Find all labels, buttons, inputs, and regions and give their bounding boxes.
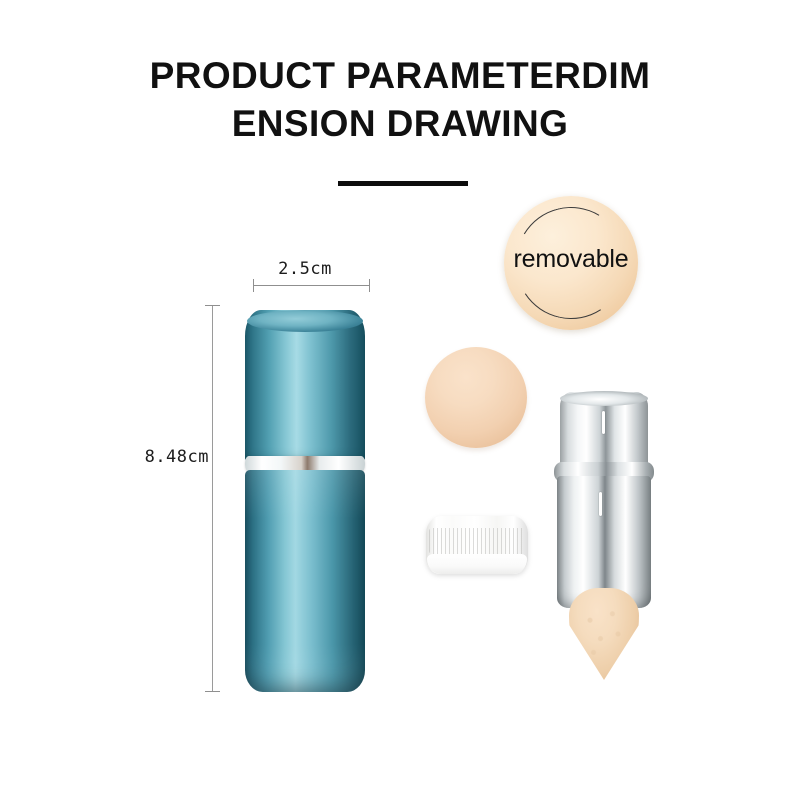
- width-dimension-tick-left: [253, 279, 254, 292]
- title-accent-rule: [338, 181, 468, 186]
- height-dimension-label: 8.48cm: [133, 447, 209, 467]
- width-dimension-label: 2.5cm: [245, 259, 365, 279]
- page-title-line-1: PRODUCT PARAMETERDIM: [0, 52, 800, 100]
- teal-bottle-image: [245, 310, 365, 692]
- bottle-body-sheen: [245, 470, 365, 692]
- white-cap-skirt: [427, 554, 527, 574]
- page-title: PRODUCT PARAMETERDIM ENSION DRAWING: [0, 52, 800, 148]
- height-dimension-tick-top: [205, 305, 220, 306]
- bottle-cap-top-ellipse: [247, 310, 363, 332]
- applicator-head-slot: [602, 411, 605, 434]
- bottle-cap: [245, 310, 365, 462]
- applicator-head-rim: [560, 391, 648, 406]
- page-title-line-2: ENSION DRAWING: [0, 100, 800, 148]
- removable-badge: removable: [504, 196, 638, 330]
- height-dimension-tick-bottom: [205, 691, 220, 692]
- sponge-ball-image: [425, 347, 527, 448]
- width-dimension-tick-right: [369, 279, 370, 292]
- white-cap-ribbing: [429, 528, 525, 554]
- removable-badge-label: removable: [504, 245, 638, 274]
- height-dimension-line: [212, 305, 213, 691]
- product-dimension-drawing-page: PRODUCT PARAMETERDIM ENSION DRAWING 2.5c…: [0, 0, 800, 800]
- applicator-sponge-texture: [569, 588, 639, 680]
- width-dimension-line: [253, 285, 369, 286]
- silver-applicator-image: [552, 392, 656, 680]
- applicator-barrel-slot: [599, 492, 602, 516]
- white-cap-image: [426, 516, 528, 574]
